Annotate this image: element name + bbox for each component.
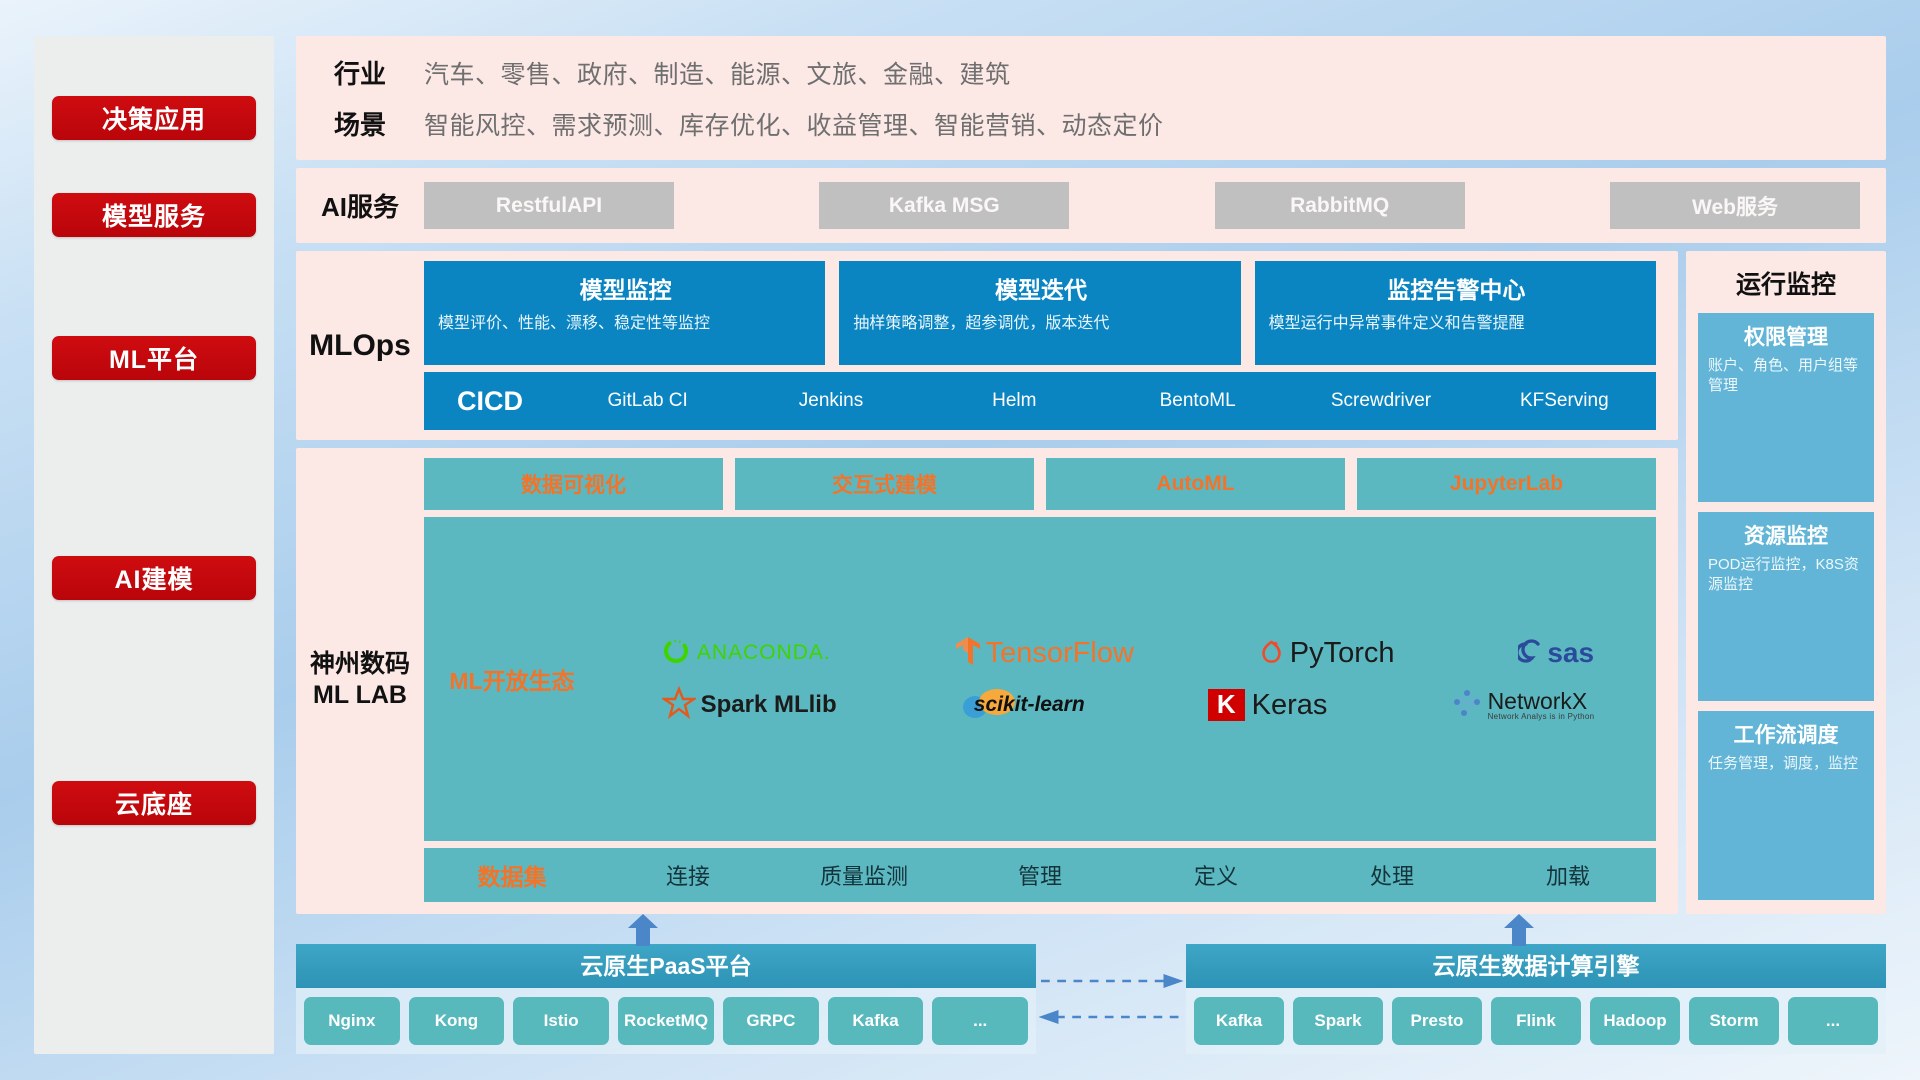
paas-chip-more[interactable]: ... xyxy=(932,997,1028,1045)
cicd-item-helm[interactable]: Helm xyxy=(923,390,1106,412)
ecosystem-logo-row-2: Spark MLlib scikit-learn xyxy=(600,680,1656,730)
cicd-item-screwdriver[interactable]: Screwdriver xyxy=(1289,390,1472,412)
monitoring-card-desc: 任务管理，调度，监控 xyxy=(1708,754,1864,774)
pytorch-wordmark: PyTorch xyxy=(1290,637,1395,670)
runtime-monitoring-title: 运行监控 xyxy=(1698,261,1874,303)
monitoring-card-desc: POD运行监控，K8S资源监控 xyxy=(1708,555,1864,596)
scikit-learn-logo: scikit-learn xyxy=(960,686,1085,725)
monitoring-card-title: 资源监控 xyxy=(1708,520,1864,550)
engine-chip-presto[interactable]: Presto xyxy=(1392,997,1482,1045)
cicd-item-kfserving[interactable]: KFServing xyxy=(1473,390,1656,412)
mlops-card-list: 模型监控 模型评价、性能、漂移、稳定性等监控 模型迭代 抽样策略调整，超参调优，… xyxy=(424,261,1656,365)
networkx-logo: NetworkX Network Analys is in Python xyxy=(1451,687,1595,724)
engine-chip-spark[interactable]: Spark xyxy=(1293,997,1383,1045)
layer-pill-cloud-base[interactable]: 云底座 xyxy=(52,781,256,825)
networkx-tagline: Network Analys is in Python xyxy=(1488,713,1595,721)
sas-logo: sas xyxy=(1518,637,1594,669)
ai-service-chips: RestfulAPI Kafka MSG RabbitMQ Web服务 xyxy=(424,182,1860,229)
cloud-base-band: 云原生PaaS平台 Nginx Kong Istio RocketMQ GRPC… xyxy=(296,926,1886,1054)
dataset-item-define[interactable]: 定义 xyxy=(1128,859,1304,891)
decision-application-band: 行业 汽车、零售、政府、制造、能源、文旅、金融、建筑 场景 智能风控、需求预测、… xyxy=(296,36,1886,160)
industry-label: 行业 xyxy=(296,54,424,91)
ecosystem-logo-grid: ANACONDA. TensorFlow xyxy=(600,628,1656,730)
scenario-label: 场景 xyxy=(296,105,424,142)
mlops-card-desc: 模型运行中异常事件定义和告警提醒 xyxy=(1269,313,1644,335)
engine-chip-hadoop[interactable]: Hadoop xyxy=(1590,997,1680,1045)
monitoring-card-resource[interactable]: 资源监控 POD运行监控，K8S资源监控 xyxy=(1698,512,1874,701)
industry-row: 行业 汽车、零售、政府、制造、能源、文旅、金融、建筑 xyxy=(296,54,1886,91)
ml-lab-label-line1: 神州数码 xyxy=(310,649,410,680)
keras-mark-icon: K xyxy=(1208,689,1245,721)
dataset-item-manage[interactable]: 管理 xyxy=(952,859,1128,891)
engine-up-arrow-icon xyxy=(1502,914,1536,946)
paas-engine-connector xyxy=(1036,921,1186,1054)
spark-mark-icon xyxy=(662,686,696,725)
monitoring-card-workflow[interactable]: 工作流调度 任务管理，调度，监控 xyxy=(1698,711,1874,900)
mlops-card-title: 监控告警中心 xyxy=(1269,271,1644,305)
monitoring-card-title: 工作流调度 xyxy=(1708,719,1864,749)
dataset-item-process[interactable]: 处理 xyxy=(1304,859,1480,891)
layer-pill-label: ML平台 xyxy=(109,340,199,376)
networkx-wordmark: NetworkX xyxy=(1488,690,1595,713)
sas-mark-icon xyxy=(1518,638,1544,669)
cicd-item-bentoml[interactable]: BentoML xyxy=(1106,390,1289,412)
mlops-card-alert-center[interactable]: 监控告警中心 模型运行中异常事件定义和告警提醒 xyxy=(1255,261,1656,365)
dataset-item-quality[interactable]: 质量监测 xyxy=(776,859,952,891)
scenario-values: 智能风控、需求预测、库存优化、收益管理、智能营销、动态定价 xyxy=(424,106,1164,142)
cicd-title: CICD xyxy=(424,386,556,417)
connector-arrows-icon xyxy=(1036,921,1186,1049)
data-engine-title: 云原生数据计算引擎 xyxy=(1186,944,1886,988)
paas-chip-list: Nginx Kong Istio RocketMQ GRPC Kafka ... xyxy=(296,988,1036,1054)
dataset-bar: 数据集 连接 质量监测 管理 定义 处理 加载 xyxy=(424,848,1656,902)
layer-pill-ai-modeling[interactable]: AI建模 xyxy=(52,556,256,600)
ml-open-ecosystem-title: ML开放生态 xyxy=(424,662,600,696)
anaconda-wordmark: ANACONDA. xyxy=(697,641,831,665)
spark-mllib-logo: Spark MLlib xyxy=(662,686,837,725)
cicd-item-list: GitLab CI Jenkins Helm BentoML Screwdriv… xyxy=(556,390,1656,412)
cicd-bar: CICD GitLab CI Jenkins Helm BentoML Scre… xyxy=(424,372,1656,430)
model-service-band: AI服务 RestfulAPI Kafka MSG RabbitMQ Web服务 xyxy=(296,168,1886,243)
paas-platform-block: 云原生PaaS平台 Nginx Kong Istio RocketMQ GRPC… xyxy=(296,944,1036,1054)
ml-lab-tool-interactive-modeling[interactable]: 交互式建模 xyxy=(735,458,1034,510)
ai-modeling-band: 神州数码 ML LAB 数据可视化 交互式建模 AutoML JupyterLa… xyxy=(296,448,1678,914)
mlops-card-model-monitoring[interactable]: 模型监控 模型评价、性能、漂移、稳定性等监控 xyxy=(424,261,825,365)
layer-pill-label: 决策应用 xyxy=(102,100,206,136)
ml-lab-content: 数据可视化 交互式建模 AutoML JupyterLab ML开放生态 xyxy=(424,458,1656,902)
cicd-item-gitlab-ci[interactable]: GitLab CI xyxy=(556,390,739,412)
spark-mllib-wordmark: Spark MLlib xyxy=(701,691,837,719)
paas-chip-nginx[interactable]: Nginx xyxy=(304,997,400,1045)
platform-modeling-column: MLOps 模型监控 模型评价、性能、漂移、稳定性等监控 模型迭代 抽样策略调整… xyxy=(296,251,1678,914)
platform-and-modeling-area: MLOps 模型监控 模型评价、性能、漂移、稳定性等监控 模型迭代 抽样策略调整… xyxy=(296,251,1886,914)
mlops-card-model-iteration[interactable]: 模型迭代 抽样策略调整，超参调优，版本迭代 xyxy=(839,261,1240,365)
paas-platform-title: 云原生PaaS平台 xyxy=(296,944,1036,988)
cicd-item-jenkins[interactable]: Jenkins xyxy=(739,390,922,412)
mlops-content: 模型监控 模型评价、性能、漂移、稳定性等监控 模型迭代 抽样策略调整，超参调优，… xyxy=(424,261,1656,430)
pytorch-mark-icon xyxy=(1258,636,1285,671)
dataset-title: 数据集 xyxy=(424,858,600,892)
ml-lab-label: 神州数码 ML LAB xyxy=(296,458,424,902)
tensorflow-logo: TensorFlow xyxy=(955,636,1134,671)
mlops-card-desc: 模型评价、性能、漂移、稳定性等监控 xyxy=(438,313,813,335)
layer-pill-label: 云底座 xyxy=(115,785,193,821)
architecture-diagram: 决策应用 模型服务 ML平台 AI建模 云底座 行业 汽车、零售、政府、制造、能… xyxy=(0,0,1920,1080)
mlops-label: MLOps xyxy=(296,261,424,430)
tensorflow-wordmark: TensorFlow xyxy=(986,637,1134,670)
ai-service-chip-web[interactable]: Web服务 xyxy=(1610,182,1860,229)
tensorflow-mark-icon xyxy=(955,636,981,671)
ai-service-chip-restfulapi[interactable]: RestfulAPI xyxy=(424,182,674,229)
keras-logo: K Keras xyxy=(1208,689,1328,722)
mlops-card-desc: 抽样策略调整，超参调优，版本迭代 xyxy=(853,313,1228,335)
anaconda-logo: ANACONDA. xyxy=(662,637,831,670)
scikit-learn-wordmark: scikit-learn xyxy=(974,693,1085,717)
ml-lab-tool-jupyterlab[interactable]: JupyterLab xyxy=(1357,458,1656,510)
paas-up-arrow-icon xyxy=(626,914,660,946)
networkx-mark-icon xyxy=(1451,687,1483,724)
layer-rail: 决策应用 模型服务 ML平台 AI建模 云底座 xyxy=(34,36,274,1054)
dataset-item-list: 连接 质量监测 管理 定义 处理 加载 xyxy=(600,859,1656,891)
monitoring-card-permission[interactable]: 权限管理 账户、角色、用户组等管理 xyxy=(1698,313,1874,502)
ecosystem-logo-row-1: ANACONDA. TensorFlow xyxy=(600,628,1656,678)
runtime-monitoring-panel: 运行监控 权限管理 账户、角色、用户组等管理 资源监控 POD运行监控，K8S资… xyxy=(1686,251,1886,914)
ml-platform-band: MLOps 模型监控 模型评价、性能、漂移、稳定性等监控 模型迭代 抽样策略调整… xyxy=(296,251,1678,440)
engine-chip-more[interactable]: ... xyxy=(1788,997,1878,1045)
paas-chip-grpc[interactable]: GRPC xyxy=(723,997,819,1045)
layer-pill-label: AI建模 xyxy=(114,560,193,596)
paas-chip-rocketmq[interactable]: RocketMQ xyxy=(618,997,714,1045)
ml-lab-tool-automl[interactable]: AutoML xyxy=(1046,458,1345,510)
engine-chip-list: Kafka Spark Presto Flink Hadoop Storm ..… xyxy=(1186,988,1886,1054)
ml-open-ecosystem: ML开放生态 ANACONDA. xyxy=(424,517,1656,841)
engine-chip-flink[interactable]: Flink xyxy=(1491,997,1581,1045)
ai-service-chip-kafka-msg[interactable]: Kafka MSG xyxy=(819,182,1069,229)
industry-values: 汽车、零售、政府、制造、能源、文旅、金融、建筑 xyxy=(424,55,1011,91)
ai-service-label: AI服务 xyxy=(296,187,424,224)
paas-chip-kafka[interactable]: Kafka xyxy=(828,997,924,1045)
engine-chip-storm[interactable]: Storm xyxy=(1689,997,1779,1045)
layer-pill-ml-platform[interactable]: ML平台 xyxy=(52,336,256,380)
paas-chip-istio[interactable]: Istio xyxy=(513,997,609,1045)
paas-chip-kong[interactable]: Kong xyxy=(409,997,505,1045)
layer-pill-label: 模型服务 xyxy=(102,197,206,233)
scenario-row: 场景 智能风控、需求预测、库存优化、收益管理、智能营销、动态定价 xyxy=(296,105,1886,142)
layer-pill-model-service[interactable]: 模型服务 xyxy=(52,193,256,237)
layer-pill-decision[interactable]: 决策应用 xyxy=(52,96,256,140)
ml-lab-label-line2: ML LAB xyxy=(310,680,410,711)
keras-wordmark: Keras xyxy=(1252,689,1328,722)
mlops-card-title: 模型监控 xyxy=(438,271,813,305)
mlops-card-title: 模型迭代 xyxy=(853,271,1228,305)
main-stack: 行业 汽车、零售、政府、制造、能源、文旅、金融、建筑 场景 智能风控、需求预测、… xyxy=(296,36,1886,1054)
ml-lab-tool-list: 数据可视化 交互式建模 AutoML JupyterLab xyxy=(424,458,1656,510)
engine-chip-kafka[interactable]: Kafka xyxy=(1194,997,1284,1045)
dataset-item-connect[interactable]: 连接 xyxy=(600,859,776,891)
ml-lab-tool-data-visualization[interactable]: 数据可视化 xyxy=(424,458,723,510)
data-engine-block: 云原生数据计算引擎 Kafka Spark Presto Flink Hadoo… xyxy=(1186,944,1886,1054)
monitoring-card-desc: 账户、角色、用户组等管理 xyxy=(1708,356,1864,397)
sas-wordmark: sas xyxy=(1547,637,1594,669)
monitoring-card-title: 权限管理 xyxy=(1708,321,1864,351)
anaconda-mark-icon xyxy=(662,637,690,670)
dataset-item-load[interactable]: 加载 xyxy=(1480,859,1656,891)
ai-service-chip-rabbitmq[interactable]: RabbitMQ xyxy=(1215,182,1465,229)
pytorch-logo: PyTorch xyxy=(1258,636,1395,671)
